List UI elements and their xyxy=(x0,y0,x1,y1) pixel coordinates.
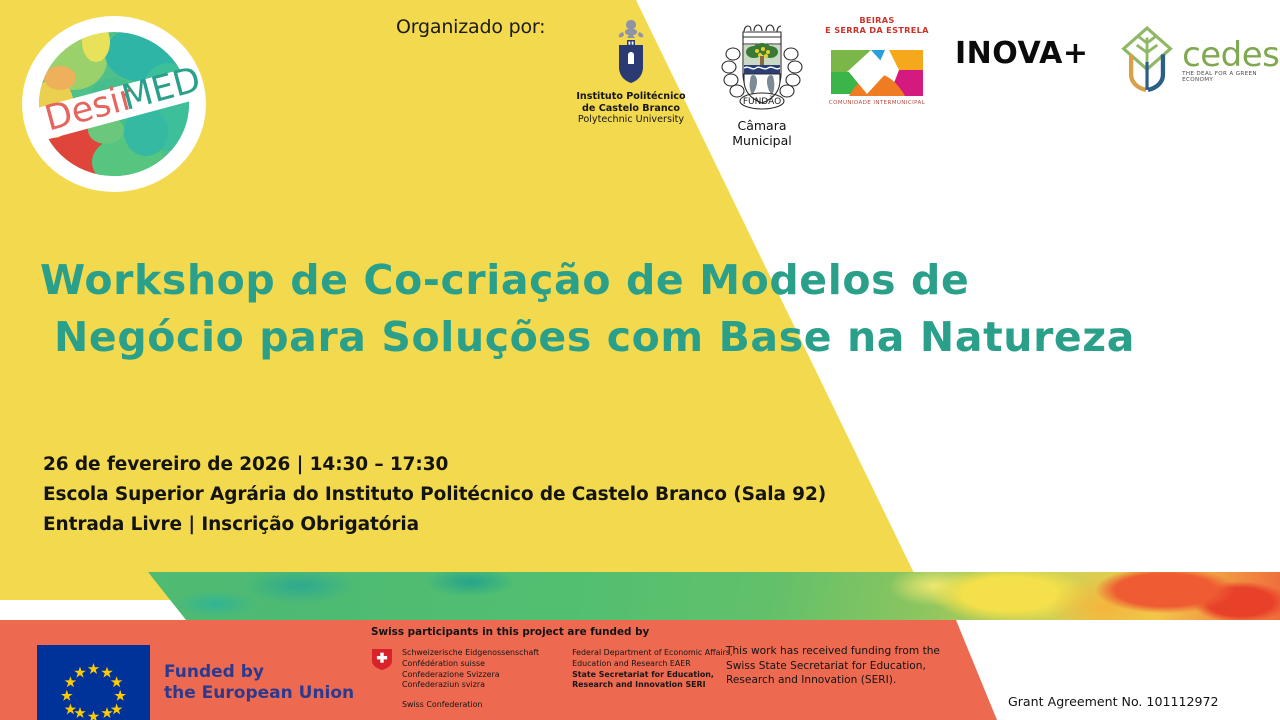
beiras-star-icon: COMUNIDADE INTERMUNICIPAL xyxy=(827,38,927,106)
swiss-name-rm: Confederaziun svizra xyxy=(402,680,539,691)
swiss-department-text: Federal Department of Economic Affairs, … xyxy=(572,648,732,711)
grant-agreement-number: Grant Agreement No. 101112972 xyxy=(1008,694,1219,709)
organizer-logo-ipcb: Instituto Politécnico de Castelo Branco … xyxy=(568,18,694,126)
fundao-caption: Câmara Municipal xyxy=(706,118,818,148)
swiss-dept-line1: Federal Department of Economic Affairs, xyxy=(572,648,732,659)
title-line-1: Workshop de Co-criação de Modelos de xyxy=(40,256,969,304)
swiss-dept-line2: Education and Research EAER xyxy=(572,659,732,670)
poster-canvas: Desir MED Organizado por: Instituto Poli… xyxy=(0,0,1280,720)
beiras-title-line2: E SERRA DA ESTRELA xyxy=(818,26,936,36)
eu-flag-icon xyxy=(37,645,150,720)
fundao-crest-icon: FUNDÃO xyxy=(713,20,811,116)
swiss-confederation-names: Schweizerische Eidgenossenschaft Confédé… xyxy=(402,648,539,711)
event-date-time: 26 de fevereiro de 2026 | 14:30 – 17:30 xyxy=(43,450,826,480)
spacer xyxy=(402,691,539,700)
ipcb-name: Instituto Politécnico de Castelo Branco … xyxy=(568,91,694,126)
swiss-name-en: Swiss Confederation xyxy=(402,700,539,711)
swiss-seri-line1: State Secretariat for Education, xyxy=(572,670,714,679)
event-details: 26 de fevereiro de 2026 | 14:30 – 17:30 … xyxy=(43,450,826,540)
swiss-name-fr: Confédération suisse xyxy=(402,659,539,670)
eu-funding-line2: the European Union xyxy=(164,683,354,704)
seri-note-line1: This work has received funding from the xyxy=(726,644,940,659)
organizer-logo-cedes: cedes THE DEAL FOR A GREEN ECONOMY xyxy=(1118,22,1280,96)
ipcb-shield-icon xyxy=(608,18,654,86)
ipcb-line2: de Castelo Branco xyxy=(568,103,694,115)
cedes-tree-icon xyxy=(1118,22,1176,96)
swiss-funding-heading: Swiss participants in this project are f… xyxy=(371,626,649,638)
watercolor-band xyxy=(0,572,1280,620)
organizer-logo-fundao: FUNDÃO Câmara Municipal xyxy=(706,20,818,148)
eu-funding-line1: Funded by xyxy=(164,662,354,683)
swiss-name-it: Confederazione Svizzera xyxy=(402,670,539,681)
seri-note-line2: Swiss State Secretariat for Education, xyxy=(726,659,940,674)
swiss-funding-block: Schweizerische Eidgenossenschaft Confédé… xyxy=(371,648,732,711)
ipcb-line3: Polytechnic University xyxy=(568,114,694,126)
beiras-subtitle: COMUNIDADE INTERMUNICIPAL xyxy=(829,100,926,106)
eu-funding-text: Funded by the European Union xyxy=(164,662,354,704)
event-admission: Entrada Livre | Inscrição Obrigatória xyxy=(43,510,826,540)
desirmed-logo: Desir MED xyxy=(18,12,210,197)
fundao-motto: FUNDÃO xyxy=(743,96,781,107)
eu-funding-block: Funded by the European Union xyxy=(37,645,354,720)
event-venue: Escola Superior Agrária do Instituto Pol… xyxy=(43,480,826,510)
desirmed-logo-svg: Desir MED xyxy=(18,12,210,197)
title-line-2: Negócio para Soluções com Base na Nature… xyxy=(40,309,1240,366)
swiss-name-de: Schweizerische Eidgenossenschaft xyxy=(402,648,539,659)
organized-by-label: Organizado por: xyxy=(396,16,545,38)
swiss-seri-line2: Research and Innovation SERI xyxy=(572,680,705,689)
page-title: Workshop de Co-criação de Modelos de Neg… xyxy=(40,252,1240,366)
cedes-wordmark: cedes xyxy=(1182,35,1280,75)
seri-funding-note: This work has received funding from the … xyxy=(726,644,940,688)
swiss-flag-icon xyxy=(371,648,393,670)
organizer-logo-beiras: BEIRAS E SERRA DA ESTRELA COMUNIDADE INT… xyxy=(818,16,936,106)
ipcb-line1: Instituto Politécnico xyxy=(568,91,694,103)
organizer-logo-inova: INOVA+ xyxy=(955,36,1089,71)
seri-note-line3: Research and Innovation (SERI). xyxy=(726,673,940,688)
